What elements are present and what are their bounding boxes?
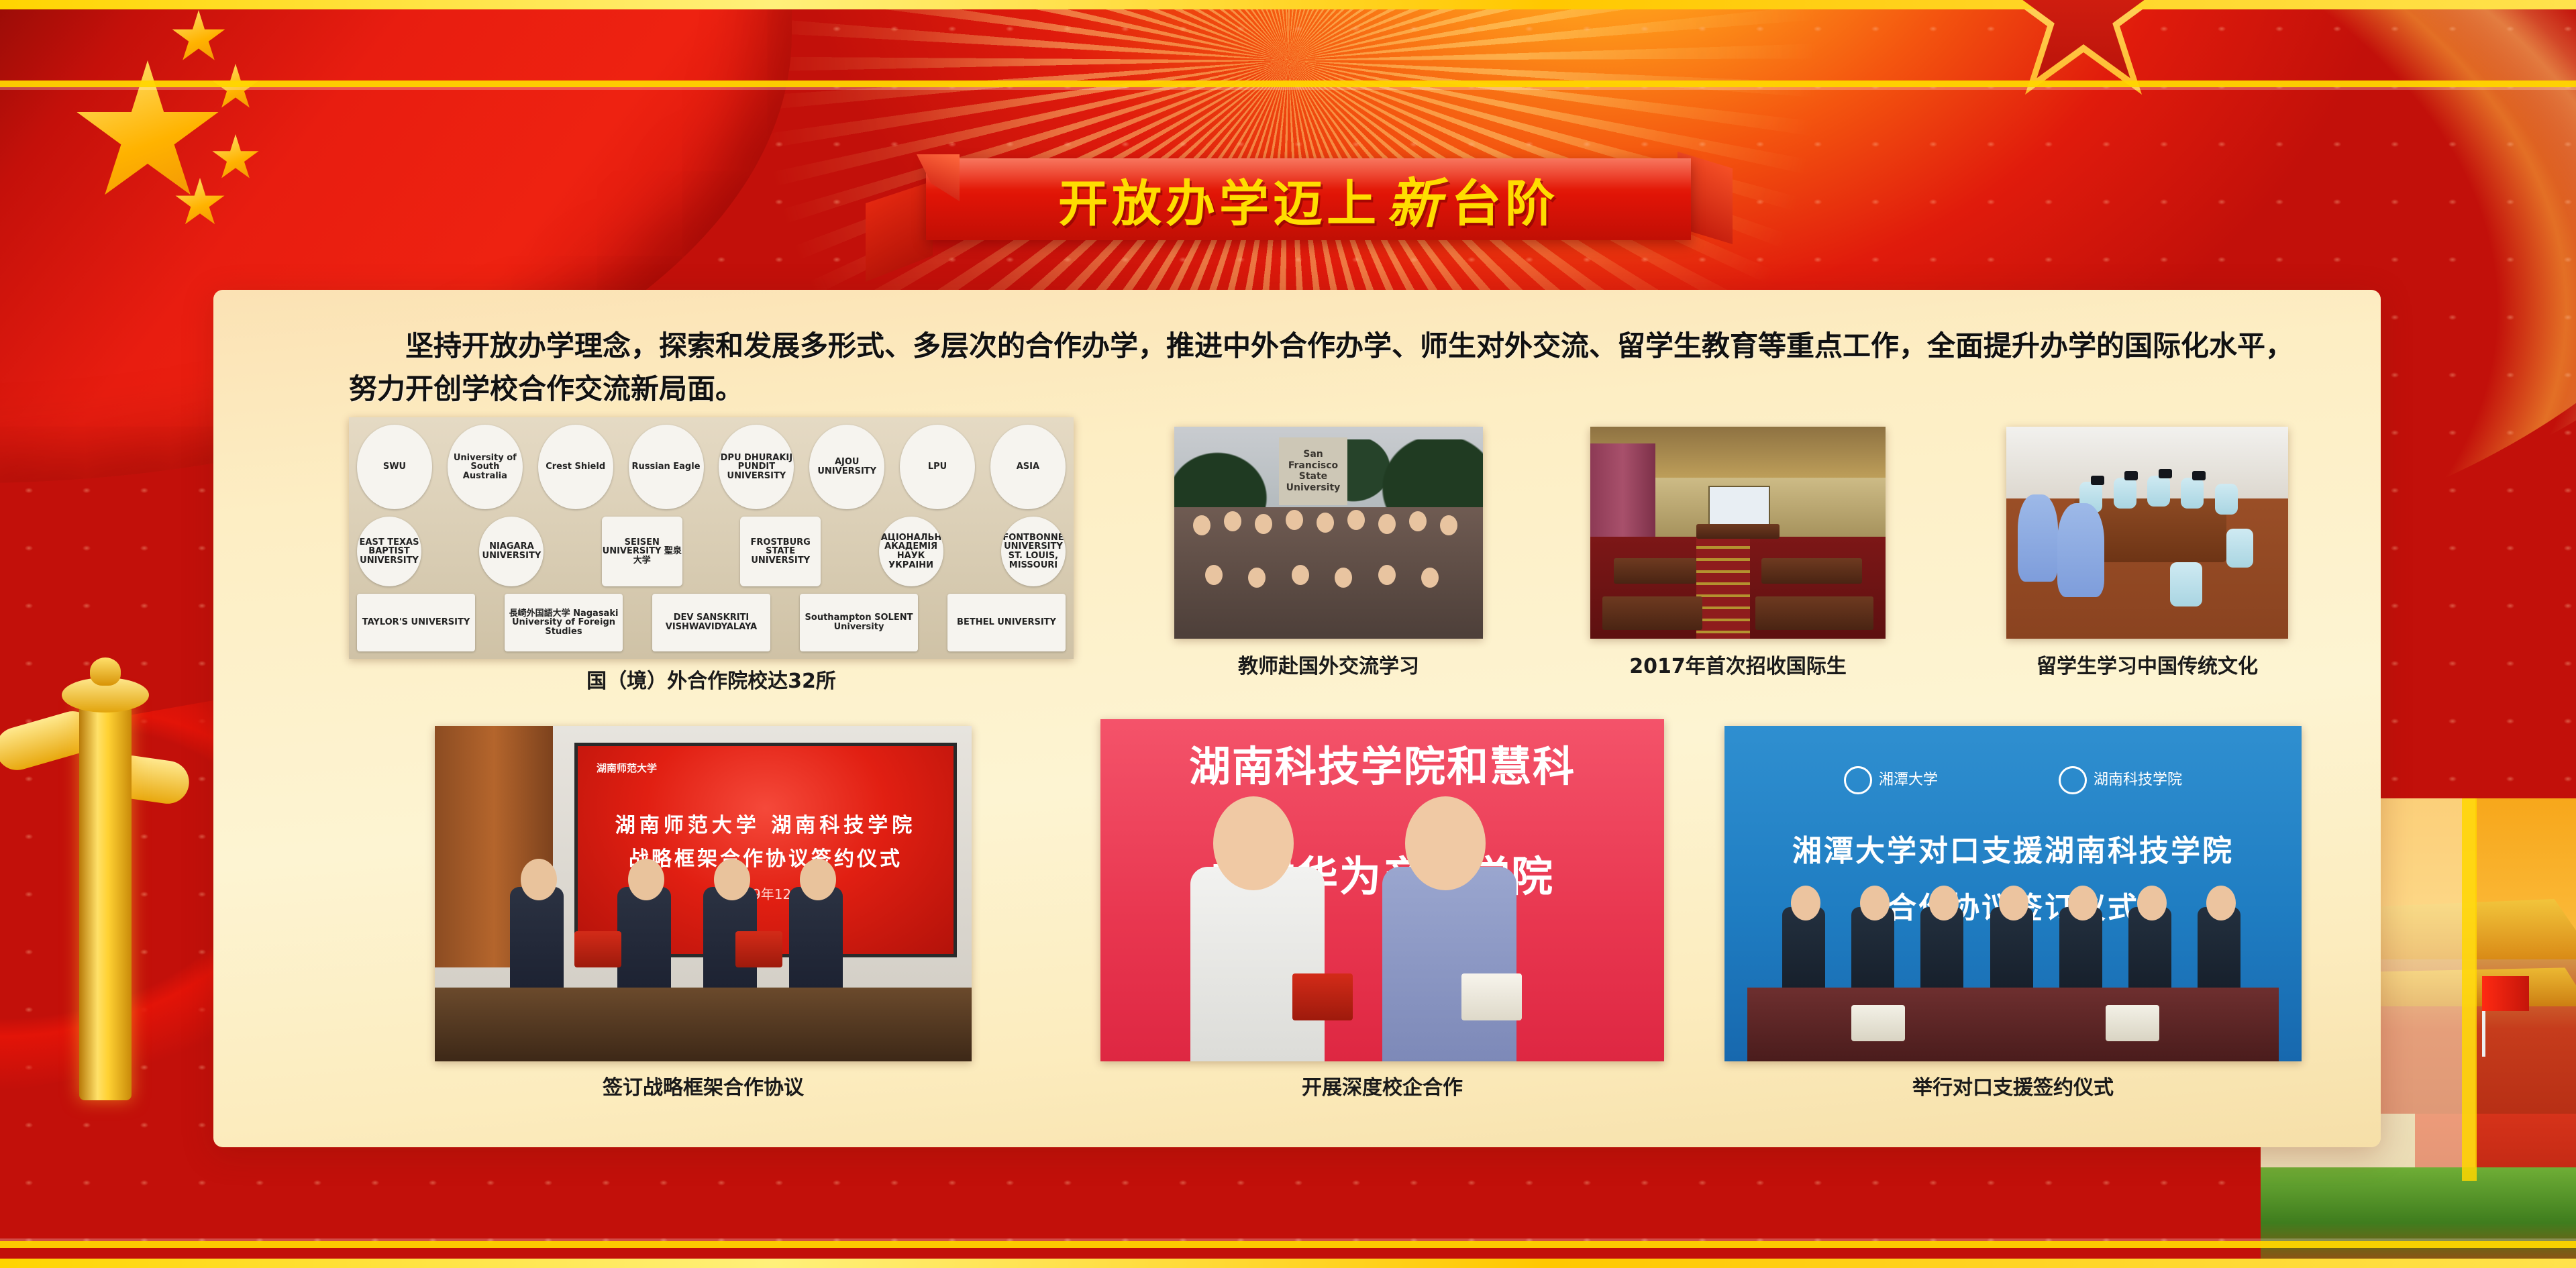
logo-item: University of South Australia (448, 425, 523, 509)
huabiao-beast-icon (90, 657, 121, 686)
tiananmen-red-flag-icon (2482, 976, 2529, 1011)
intro-paragraph: 坚持开放办学理念，探索和发展多形式、多层次的合作办学，推进中外合作办学、师生对外… (349, 325, 2349, 411)
desk (1602, 596, 1703, 631)
desk (1761, 558, 1862, 584)
logo-item: LPU (900, 425, 975, 509)
student-in-hanfu (2215, 484, 2238, 515)
flag-small-star-1-icon (171, 10, 226, 65)
campus-sign: San Francisco State University (1279, 437, 1347, 505)
photo-caption: 签订战略框架合作协议 (435, 1071, 972, 1100)
signing-table (1747, 988, 2278, 1061)
university-seal-icon (1844, 766, 1872, 794)
photo-content (1590, 427, 1886, 639)
photo-content: 湖南师范大学 湖南师范大学 湖南科技学院 战略框架合作协议签约仪式 2019年1… (435, 726, 972, 1061)
photo-content: San Francisco State University (1174, 427, 1483, 639)
logo-item: DEV SANSKRITI VISHWAVIDYALAYA (652, 594, 770, 651)
red-folder (1292, 973, 1353, 1020)
logo-item: EAST TEXAS BAPTIST UNIVERSITY (357, 517, 421, 586)
teacher-in-blue-hanfu (2018, 494, 2058, 582)
desk (1755, 596, 1873, 631)
person-head (628, 859, 664, 900)
top-gold-bar (0, 0, 2576, 9)
logo-item: Southampton SOLENT University (800, 594, 918, 651)
logo-hunan-university-science-engineering: 湖南科技学院 (2059, 766, 2182, 794)
photo-strategic-framework-signing: 湖南师范大学 湖南师范大学 湖南科技学院 战略框架合作协议签约仪式 2019年1… (435, 726, 972, 1061)
screen-university-logo: 湖南师范大学 (597, 761, 657, 775)
page-title: 开放办学迈上新台阶 (926, 158, 1691, 240)
signing-table (435, 988, 972, 1061)
logo-item: SWU (357, 425, 432, 509)
desk (1614, 558, 1696, 584)
logo-item: BETHEL UNIVERSITY (947, 594, 1066, 651)
university-seal-icon (2059, 766, 2087, 794)
logo-item: НАЦIОНАЛЬНА АКАДЕМIЯ НАУК УКРАIНИ (879, 517, 943, 586)
person-head (2068, 886, 2098, 920)
person-head (714, 859, 750, 900)
logo-row-1: SWU University of South Australia Crest … (357, 424, 1066, 510)
huabiao-shaft (79, 698, 132, 1100)
person-head (1929, 886, 1959, 920)
person-head (1999, 886, 2028, 920)
red-folder (735, 931, 782, 967)
logo-xiangtan-university: 湘潭大学 (1844, 766, 1938, 794)
person-left (1190, 867, 1325, 1061)
logo-item: ASIA (990, 425, 1066, 509)
logo-item: Crest Shield (538, 425, 613, 509)
logo-item: AJOU UNIVERSITY (809, 425, 884, 509)
logo-item: FROSTBURG STATE UNIVERSITY (740, 517, 821, 586)
photo-caption: 国（境）外合作院校达32所 (349, 664, 1074, 694)
student-in-hanfu (2114, 478, 2136, 509)
ribbon-left-fold (866, 181, 933, 282)
photo-first-international-students (1590, 427, 1886, 639)
tiananmen-garden (2261, 1167, 2576, 1268)
paragraph-line-1: 坚持开放办学理念，探索和发展多形式、多层次的合作办学，推进中外合作办学、师生对外… (349, 325, 2349, 368)
student-in-hanfu (2181, 478, 2204, 509)
red-folder (574, 931, 621, 967)
person (617, 887, 671, 1001)
projection-screen (1708, 486, 1770, 527)
logo-row-2: EAST TEXAS BAPTIST UNIVERSITY NIAGARA UN… (357, 515, 1066, 588)
photo-logo-wall: SWU University of South Australia Crest … (349, 417, 1074, 659)
logo-row-3: TAYLOR'S UNIVERSITY 長崎外国語大学 Nagasaki Uni… (357, 593, 1066, 652)
photo-counterpart-support-signing: 湘潭大学 湖南科技学院 湘潭大学对口支援湖南科技学院 合作协议签订仪式 (1724, 726, 2302, 1061)
photo-content: 湖南科技学院和慧科 共建华为产业学院 (1100, 719, 1664, 1061)
signing-book (1851, 1005, 1905, 1041)
photo-caption: 开展深度校企合作 (1100, 1071, 1664, 1100)
student-in-blue-hanfu (2057, 503, 2104, 597)
logo-item: DPU DHURAKIJ PUNDIT UNIVERSITY (719, 425, 794, 509)
display-board: 世界人民大团结万岁 开放办学迈上新台阶 坚持开放办学理念，探索和发展多形式、多层… (0, 0, 2576, 1268)
student-in-hanfu (2226, 529, 2253, 568)
bottom-gold-bar (0, 1259, 2576, 1268)
photo-traditional-culture (2006, 427, 2288, 639)
screen-line-1: 湖南师范大学 湖南科技学院 (578, 808, 954, 838)
person-right (1382, 867, 1516, 1061)
person (789, 887, 843, 1001)
person (510, 887, 564, 1001)
photo-content (2006, 427, 2288, 639)
logo-item: 長崎外国語大学 Nagasaki University of Foreign S… (505, 594, 623, 651)
photo-teachers-abroad: San Francisco State University (1174, 427, 1483, 639)
person-head (521, 859, 557, 900)
huabiao-pillar-decor (20, 657, 174, 1127)
student-in-hanfu (2147, 476, 2170, 507)
photo-school-enterprise-cooperation: 湖南科技学院和慧科 共建华为产业学院 (1100, 719, 1664, 1061)
student-in-hanfu (2170, 562, 2202, 606)
banner-line-1: 湘潭大学对口支援湖南科技学院 (1724, 827, 2302, 869)
signing-book (2106, 1005, 2159, 1041)
title-ribbon: 开放办学迈上新台阶 (852, 152, 1738, 279)
logo-item: NIAGARA UNIVERSITY (479, 517, 544, 586)
photo-caption: 留学生学习中国传统文化 (2006, 649, 2288, 679)
group-of-people (1174, 507, 1483, 639)
flag-small-star-2-icon (211, 64, 260, 112)
logo-item: FONTBONNE UNIVERSITY ST. LOUIS, MISSOURI (1001, 517, 1066, 586)
tiananmen-yellow-edge (2462, 798, 2477, 1181)
flag-small-star-3-icon (211, 134, 260, 182)
person-head (800, 859, 836, 900)
person-head (1791, 886, 1820, 920)
person-right-head (1405, 796, 1486, 890)
banner-logos: 湘潭大学 湖南科技学院 (1724, 766, 2302, 794)
person-head (2137, 886, 2167, 920)
title-part-3: 台阶 (1451, 164, 1559, 235)
person-head (2206, 886, 2236, 920)
logo-item: Russian Eagle (629, 425, 704, 509)
photo-caption: 举行对口支援签约仪式 (1724, 1071, 2302, 1100)
logo-item: SEISEN UNIVERSITY 聖泉大学 (602, 517, 682, 586)
carpet-aisle (1696, 537, 1749, 639)
photo-caption: 2017年首次招收国际生 (1590, 649, 1886, 679)
person-left-head (1213, 796, 1294, 890)
photo-content: 湘潭大学 湖南科技学院 湘潭大学对口支援湖南科技学院 合作协议签订仪式 (1724, 726, 2302, 1061)
title-part-1: 开放办学迈上 (1058, 164, 1380, 235)
head-table (1696, 524, 1779, 539)
banner-line-1: 湖南科技学院和慧科 (1100, 733, 1664, 793)
title-part-2-cursive: 新 (1387, 160, 1445, 238)
photo-caption: 教师赴国外交流学习 (1174, 649, 1483, 679)
logo-item: TAYLOR'S UNIVERSITY (357, 594, 475, 651)
paragraph-line-2: 努力开创学校合作交流新局面。 (349, 368, 2349, 411)
person-head (1860, 886, 1890, 920)
signing-book (1461, 973, 1522, 1020)
